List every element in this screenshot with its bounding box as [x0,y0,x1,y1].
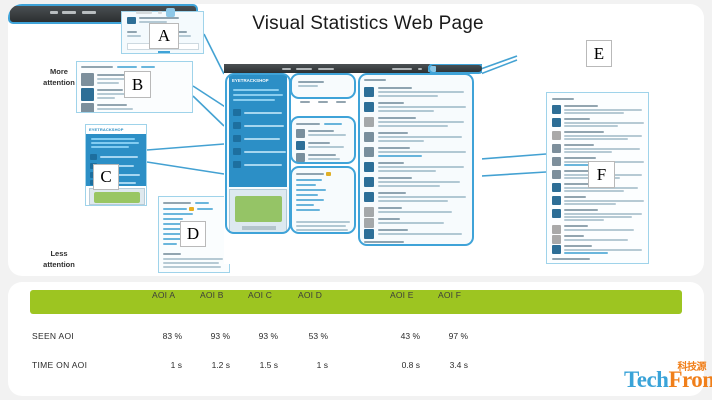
callout-a: A [149,23,179,49]
callout-b: B [124,71,151,98]
statistics-table-card: AOI A AOI B AOI C AOI D AOI E AOI F SEEN… [8,282,704,396]
callout-f: F [588,161,615,188]
less-attention-line1: Less [24,248,94,259]
callout-c: C [93,164,119,190]
callout-d: D [180,221,206,247]
slide-canvas: Visual Statistics Web Page More attentio… [0,0,712,400]
watermark-techfrom: TechFrom [624,367,712,393]
promo-brand-label: EYETRACKSHOP [89,127,124,132]
column-header-aoi-a: AOI A [152,290,175,300]
aoi-region-b[interactable] [290,116,356,164]
watermark-from: From [668,367,712,392]
cell-time-aoi-c: 1.5 s [244,360,278,370]
page-title: Visual Statistics Web Page [213,13,523,35]
column-header-aoi-c: AOI C [248,290,272,300]
page-title-wrapper: Visual Statistics Web Page [213,13,523,35]
cell-seen-aoi-d: 53 % [294,331,328,341]
watermark-tech: Tech [624,367,668,392]
watermark: 科技源 TechFrom [624,358,708,398]
callout-e: E [586,40,612,67]
aoi-region-f[interactable] [358,73,474,246]
cell-time-aoi-f: 3.4 s [434,360,468,370]
cell-seen-aoi-c: 93 % [244,331,278,341]
cell-time-aoi-a: 1 s [148,360,182,370]
cell-seen-aoi-e: 43 % [386,331,420,341]
aoi-region-c[interactable] [225,73,291,234]
cell-seen-aoi-b: 93 % [196,331,230,341]
cell-time-aoi-b: 1.2 s [196,360,230,370]
column-header-aoi-f: AOI F [438,290,461,300]
table-header-bar [30,290,682,314]
cell-seen-aoi-a: 83 % [148,331,182,341]
row-label-seen-aoi: SEEN AOI [32,331,74,341]
column-header-aoi-e: AOI E [390,290,414,300]
aoi-region-d[interactable] [290,166,356,234]
row-label-time-on-aoi: TIME ON AOI [32,360,87,370]
diagram-card: Visual Statistics Web Page More attentio… [8,4,704,276]
cell-time-aoi-d: 1 s [294,360,328,370]
column-header-aoi-d: AOI D [298,290,322,300]
column-header-aoi-b: AOI B [200,290,224,300]
aoi-region-a[interactable] [290,73,356,99]
heatmap-screenshot[interactable]: EYETRACKSHOP [224,64,482,264]
cell-time-aoi-e: 0.8 s [386,360,420,370]
less-attention-label: Less attention [24,248,94,270]
less-attention-line2: attention [24,259,94,270]
cell-seen-aoi-f: 97 % [434,331,468,341]
